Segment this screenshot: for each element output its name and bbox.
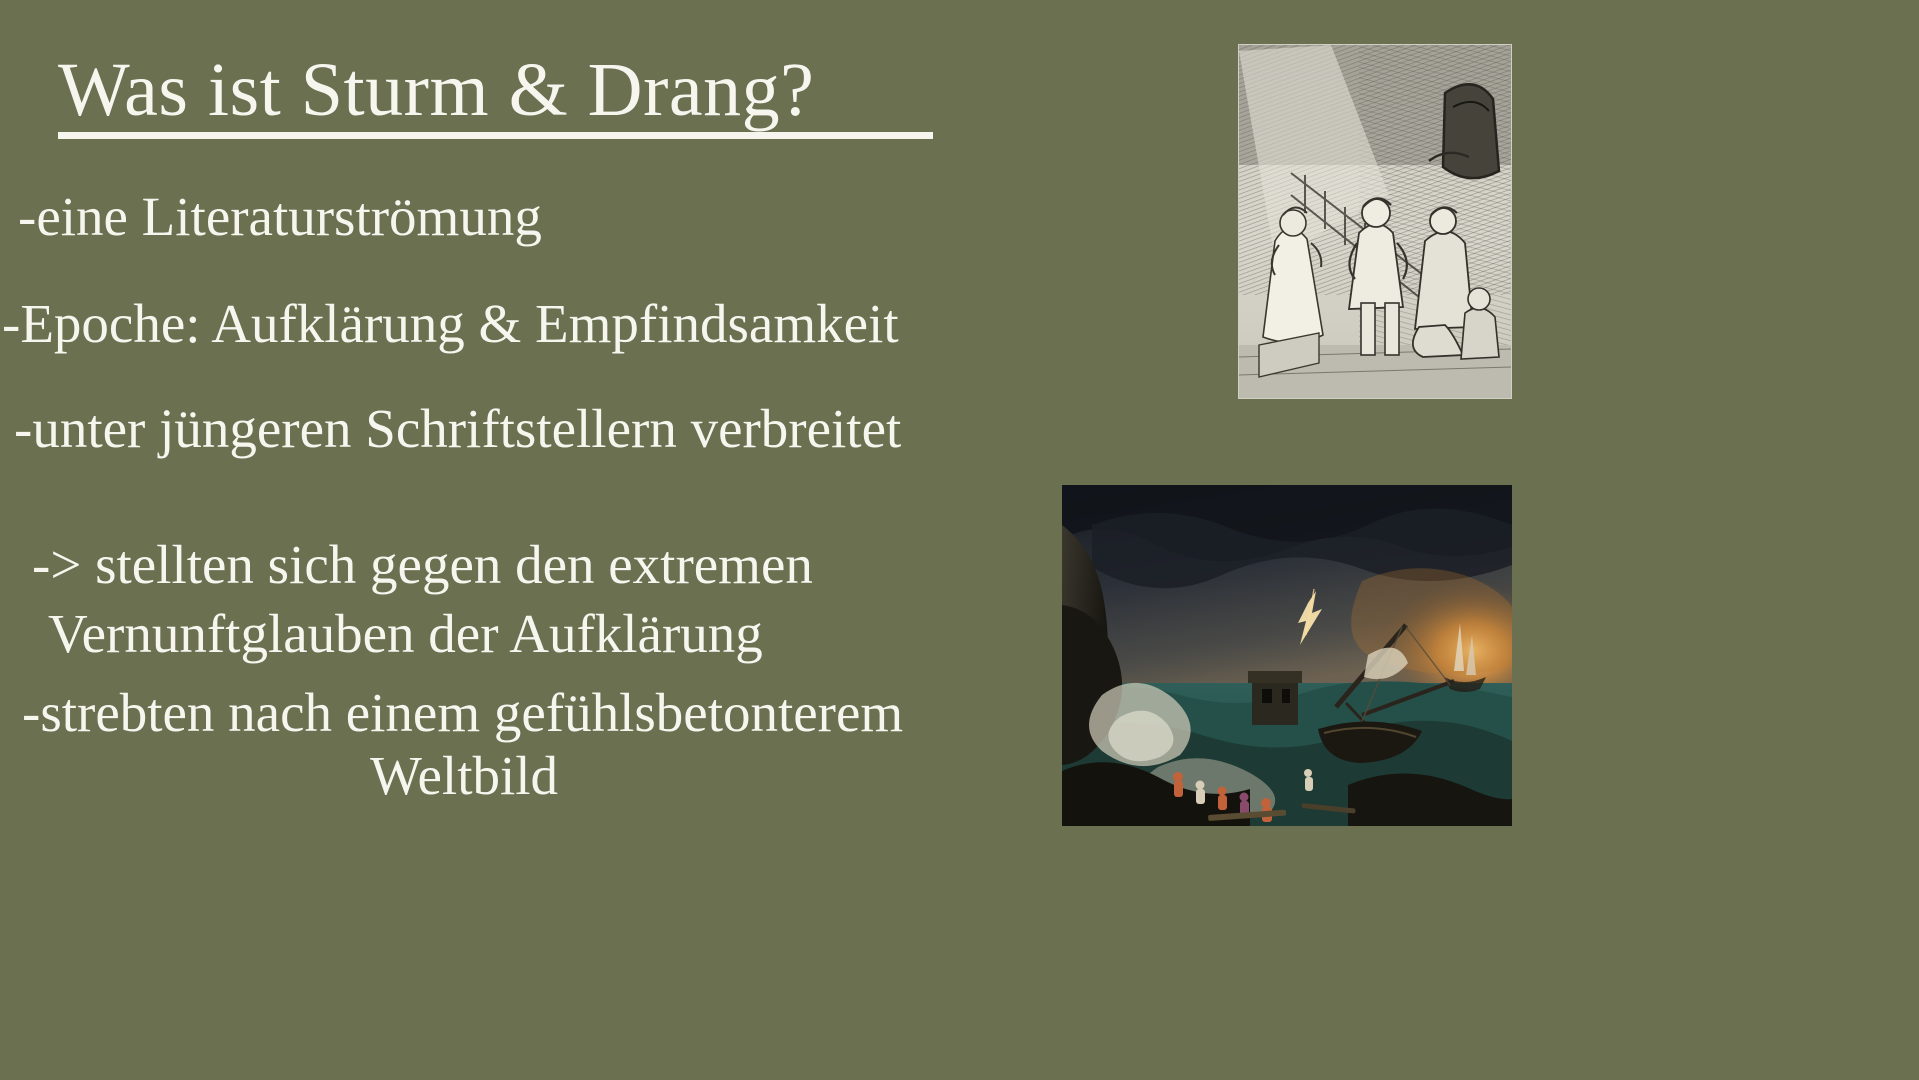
historic-engraving-image bbox=[1238, 44, 1512, 399]
bullet-item-vernunft-line1: -> stellten sich gegen den extremen bbox=[32, 536, 1040, 593]
page-title: Was ist Sturm & Drang? bbox=[58, 52, 958, 128]
bullet-item-schriftsteller: -unter jüngeren Schriftstellern verbreit… bbox=[14, 400, 1040, 457]
bullet-item-vernunft-line2: Vernunftglauben der Aufklärung bbox=[48, 605, 1040, 662]
page-title-block: Was ist Sturm & Drang? bbox=[58, 52, 958, 139]
bullet-item-weltbild-line2: Weltbild bbox=[370, 747, 1040, 804]
storm-shipwreck-painting-image bbox=[1062, 485, 1512, 826]
bullet-list: -eine Literaturströmung -Epoche: Aufklär… bbox=[0, 188, 1040, 804]
title-underline-rule bbox=[58, 132, 933, 139]
bullet-item-literaturstroemung: -eine Literaturströmung bbox=[18, 188, 1040, 245]
bullet-item-epoche: -Epoche: Aufklärung & Empfindsamkeit bbox=[2, 295, 1040, 352]
slide-canvas: Was ist Sturm & Drang? -eine Literaturst… bbox=[0, 0, 1919, 1080]
bullet-subgroup: -> stellten sich gegen den extremen Vern… bbox=[0, 536, 1040, 805]
engraving-artwork bbox=[1239, 45, 1511, 398]
bullet-item-weltbild-line1: -strebten nach einem gefühlsbetonterem bbox=[22, 684, 1040, 741]
storm-artwork bbox=[1062, 485, 1512, 826]
